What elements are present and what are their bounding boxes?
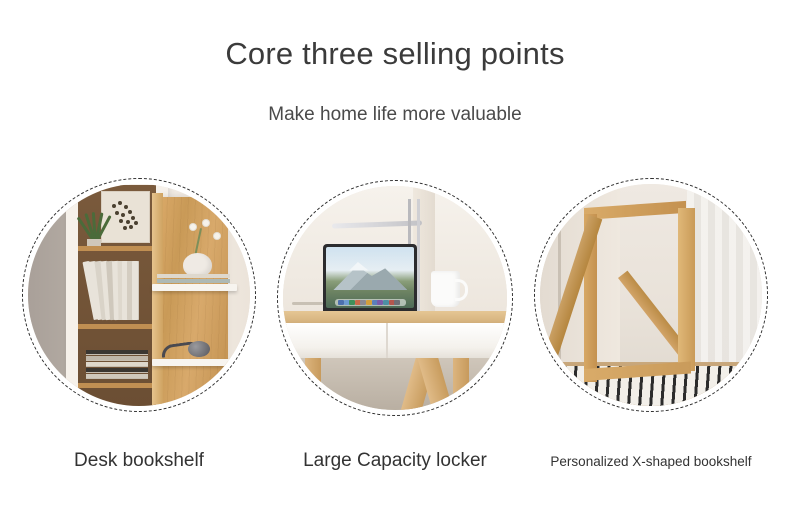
feature-caption-3: Personalized X-shaped bookshelf	[534, 454, 768, 469]
page-title: Core three selling points	[0, 36, 790, 72]
promo-banner: Core three selling points Make home life…	[0, 0, 790, 531]
feature-card-1[interactable]	[22, 178, 256, 412]
dashed-circle-frame-2	[277, 180, 513, 416]
feature-card-2[interactable]	[277, 180, 513, 416]
dashed-circle-frame-3	[534, 178, 768, 412]
dashed-circle-frame-1	[22, 178, 256, 412]
feature-card-3[interactable]	[534, 178, 768, 412]
feature-caption-1: Desk bookshelf	[22, 450, 256, 472]
page-subtitle: Make home life more valuable	[0, 104, 790, 126]
feature-caption-2: Large Capacity locker	[277, 450, 513, 472]
